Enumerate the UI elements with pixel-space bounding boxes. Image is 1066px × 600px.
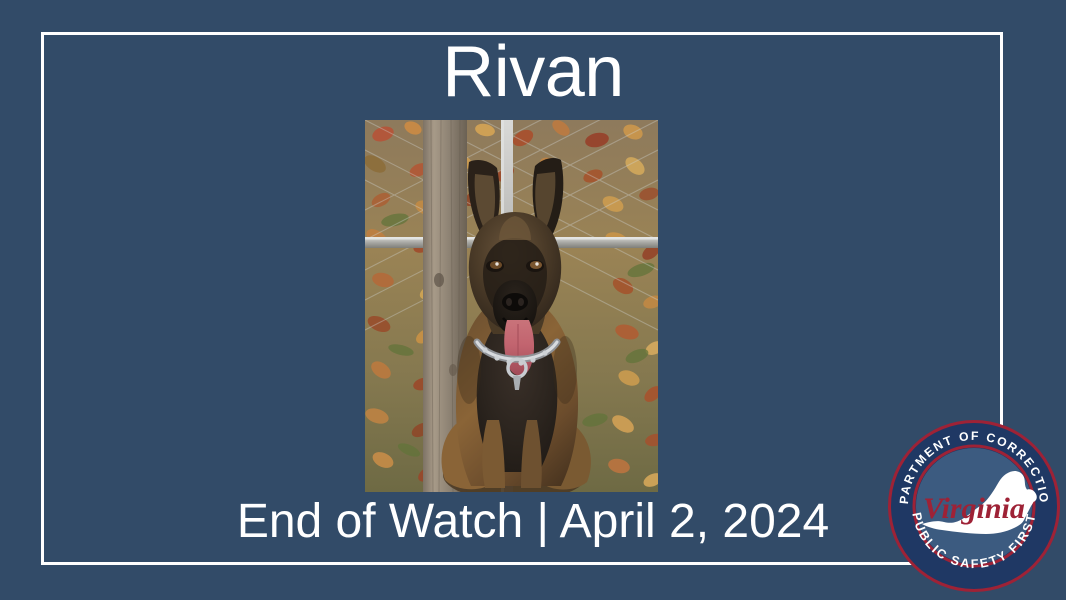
memorial-card: Rivan End of Watch | April 2, 2024 [0,0,1066,600]
seal-center-text: Virginia [923,492,1025,525]
k9-photo [365,120,658,492]
page-title: Rivan [0,33,1066,111]
virginia-doc-seal: Virginia DEPARTMENT OF CORRECTIONS PUBLI… [886,418,1062,594]
k9-photo-image [365,120,658,492]
virginia-doc-seal-graphic: Virginia DEPARTMENT OF CORRECTIONS PUBLI… [886,418,1062,594]
